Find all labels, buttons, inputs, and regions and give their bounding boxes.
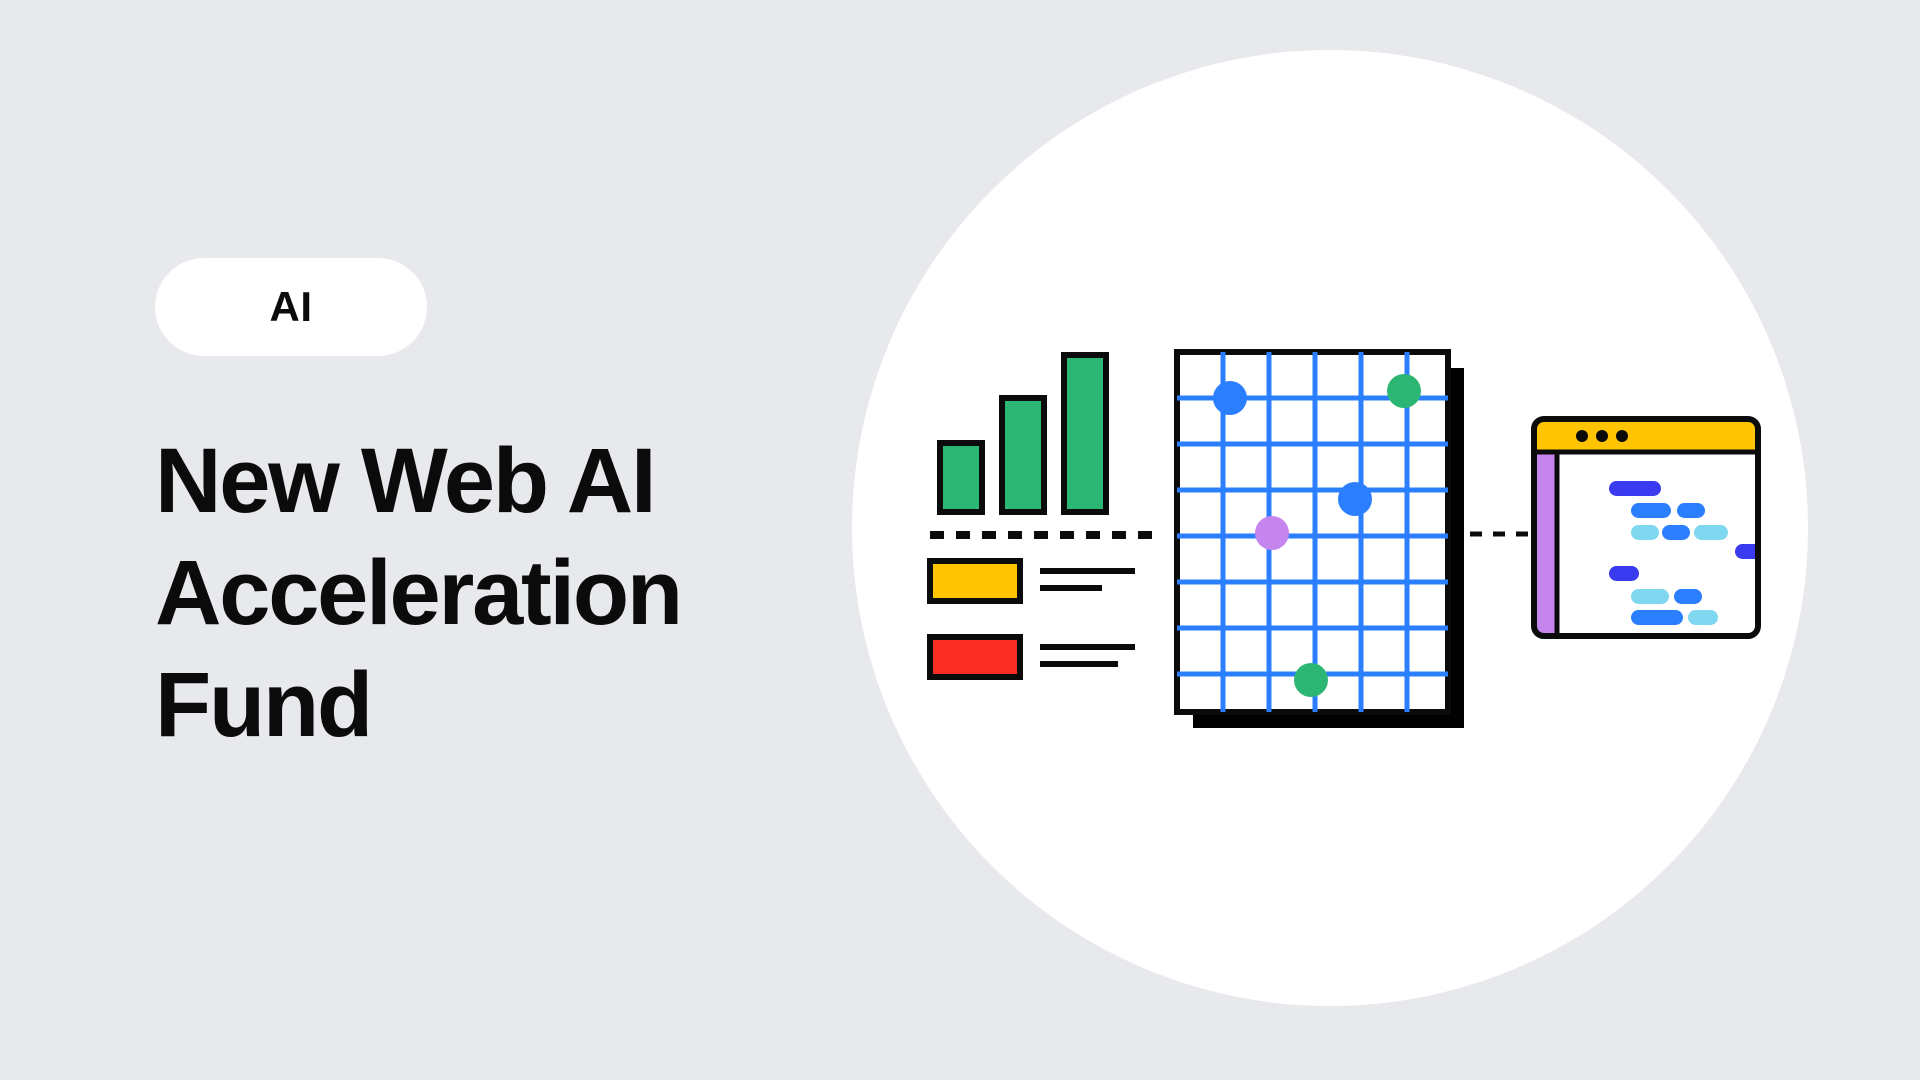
data-grid-panel	[1177, 352, 1464, 728]
bar-bar-3	[1064, 355, 1106, 512]
code-token-4	[1631, 525, 1659, 540]
code-token-2	[1631, 503, 1671, 518]
page-title: New Web AI Acceleration Fund	[155, 425, 795, 762]
code-token-11	[1631, 610, 1683, 625]
code-window-inner	[1534, 419, 1773, 636]
category-badge[interactable]: AI	[155, 258, 427, 356]
legend-row-yellow-swatch	[930, 561, 1020, 601]
window-dot-3[interactable]	[1616, 430, 1628, 442]
poster-canvas: AI New Web AI Acceleration Fund	[0, 0, 1920, 1080]
legend-row-red-swatch	[930, 637, 1020, 677]
code-token-5	[1662, 525, 1690, 540]
category-badge-label: AI	[270, 286, 313, 328]
grid-dot-purple-1	[1255, 516, 1289, 550]
grid-dot-green-1	[1387, 374, 1421, 408]
code-token-1	[1609, 481, 1661, 496]
code-token-3	[1677, 503, 1705, 518]
code-token-8	[1609, 566, 1639, 581]
bar-bar-1	[940, 443, 982, 512]
code-token-12	[1688, 610, 1718, 625]
grid-dot-green-2	[1294, 663, 1328, 697]
code-token-6	[1694, 525, 1728, 540]
window-dot-1[interactable]	[1576, 430, 1588, 442]
code-token-9	[1631, 589, 1669, 604]
grid-dot-blue-1	[1213, 381, 1247, 415]
window-dot-2[interactable]	[1596, 430, 1608, 442]
bar-bar-2	[1002, 398, 1044, 512]
code-editor-window	[1534, 419, 1773, 636]
grid-dot-blue-2	[1338, 482, 1372, 516]
code-window-sidebar	[1534, 452, 1557, 636]
code-token-10	[1674, 589, 1702, 604]
text-column: AI New Web AI Acceleration Fund	[155, 258, 795, 823]
code-window-titlebar	[1534, 419, 1758, 452]
